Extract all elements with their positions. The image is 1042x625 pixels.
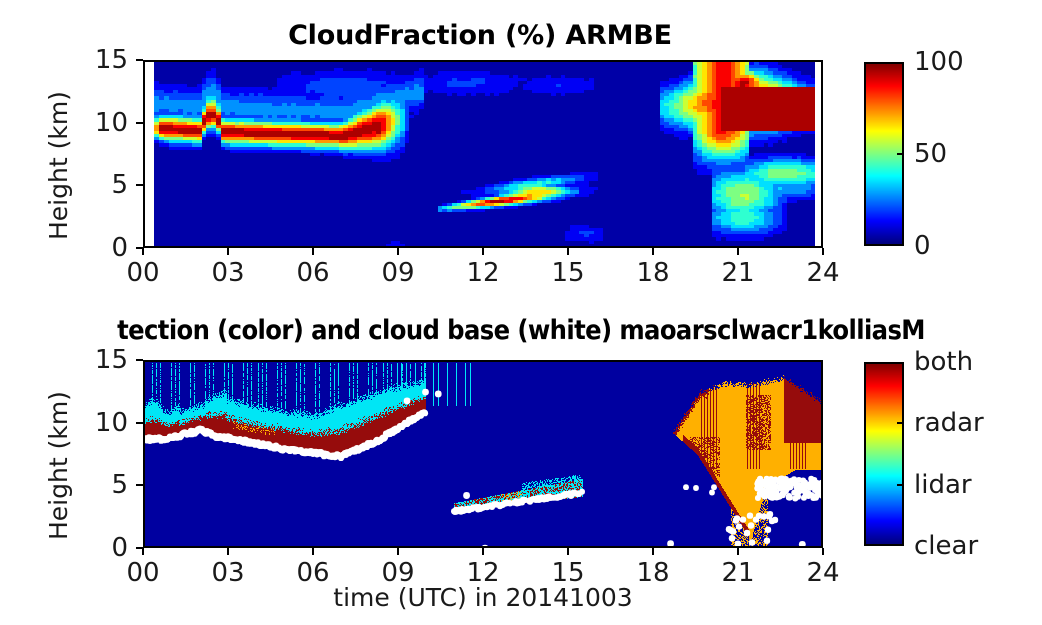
colorbar-tick-1-1 (897, 484, 904, 486)
y-ticklabel-1-0: 0 (38, 535, 128, 561)
x-tick-0-1 (227, 248, 229, 255)
y-ticklabel-1-1: 5 (38, 472, 128, 498)
x-ticklabel-1-7: 21 (721, 560, 754, 586)
x-tick-1-6 (652, 548, 654, 555)
x-tick-0-3 (397, 248, 399, 255)
x-ticklabel-0-3: 09 (381, 260, 414, 286)
x-ticklabel-1-5: 15 (551, 560, 584, 586)
colorbar-cloud-detection (864, 362, 904, 546)
x-tick-1-7 (737, 548, 739, 555)
cloud-fraction-plot (143, 60, 823, 248)
cloud-detection-heatmap-canvas (145, 362, 823, 548)
x-ticklabel-1-1: 03 (211, 560, 244, 586)
x-tick-1-0 (142, 548, 144, 555)
x-ticklabel-0-8: 24 (806, 260, 839, 286)
y-tick-0-3 (136, 59, 143, 61)
x-tick-1-2 (312, 548, 314, 555)
x-ticklabel-0-4: 12 (466, 260, 499, 286)
page-title: CloudFraction (%) ARMBE (0, 22, 960, 49)
x-tick-1-5 (567, 548, 569, 555)
y-tick-0-1 (136, 184, 143, 186)
x-ticklabel-1-4: 12 (466, 560, 499, 586)
colorbar-label-0-2: 100 (914, 49, 964, 75)
x-tick-0-0 (142, 248, 144, 255)
colorbar-label-1-3: both (914, 349, 973, 375)
colorbar-gradient-bottom (866, 364, 902, 544)
x-ticklabel-0-7: 21 (721, 260, 754, 286)
y-tick-1-3 (136, 359, 143, 361)
x-tick-1-3 (397, 548, 399, 555)
y-ticklabel-1-2: 10 (38, 410, 128, 436)
y-tick-1-2 (136, 422, 143, 424)
x-ticklabel-0-2: 06 (296, 260, 329, 286)
x-tick-0-7 (737, 248, 739, 255)
x-tick-0-5 (567, 248, 569, 255)
x-tick-1-8 (822, 548, 824, 555)
x-ticklabel-1-8: 24 (806, 560, 839, 586)
x-ticklabel-1-0: 00 (126, 560, 159, 586)
x-tick-0-2 (312, 248, 314, 255)
x-tick-1-4 (482, 548, 484, 555)
y-ticklabel-0-2: 10 (38, 110, 128, 136)
x-ticklabel-0-5: 15 (551, 260, 584, 286)
secondary-page-title: tection (color) and cloud base (white) m… (117, 317, 925, 344)
colorbar-label-1-1: lidar (914, 472, 972, 498)
figure-root: CloudFraction (%) ARMBE Height (km) tect… (0, 0, 1042, 625)
colorbar-label-1-0: clear (914, 533, 978, 559)
y-ticklabel-0-1: 5 (38, 172, 128, 198)
x-tick-0-8 (822, 248, 824, 255)
y-tick-1-1 (136, 484, 143, 486)
x-ticklabel-1-6: 18 (636, 560, 669, 586)
colorbar-tick-0-1 (897, 153, 904, 155)
x-axis-label: time (UTC) in 20141003 (143, 585, 823, 610)
colorbar-tick-1-2 (897, 422, 904, 424)
colorbar-label-0-0: 0 (914, 233, 931, 259)
y-tick-0-2 (136, 122, 143, 124)
colorbar-label-0-1: 50 (914, 141, 947, 167)
cloud-fraction-heatmap-canvas (145, 62, 823, 248)
x-ticklabel-1-2: 06 (296, 560, 329, 586)
x-tick-1-1 (227, 548, 229, 555)
x-ticklabel-0-0: 00 (126, 260, 159, 286)
x-ticklabel-1-3: 09 (381, 560, 414, 586)
colorbar-label-1-2: radar (914, 410, 984, 436)
y-ticklabel-0-0: 0 (38, 235, 128, 261)
y-ticklabel-1-3: 15 (38, 347, 128, 373)
x-ticklabel-0-6: 18 (636, 260, 669, 286)
x-ticklabel-0-1: 03 (211, 260, 244, 286)
x-tick-0-6 (652, 248, 654, 255)
y-ticklabel-0-3: 15 (38, 47, 128, 73)
x-tick-0-4 (482, 248, 484, 255)
cloud-detection-plot (143, 360, 823, 548)
